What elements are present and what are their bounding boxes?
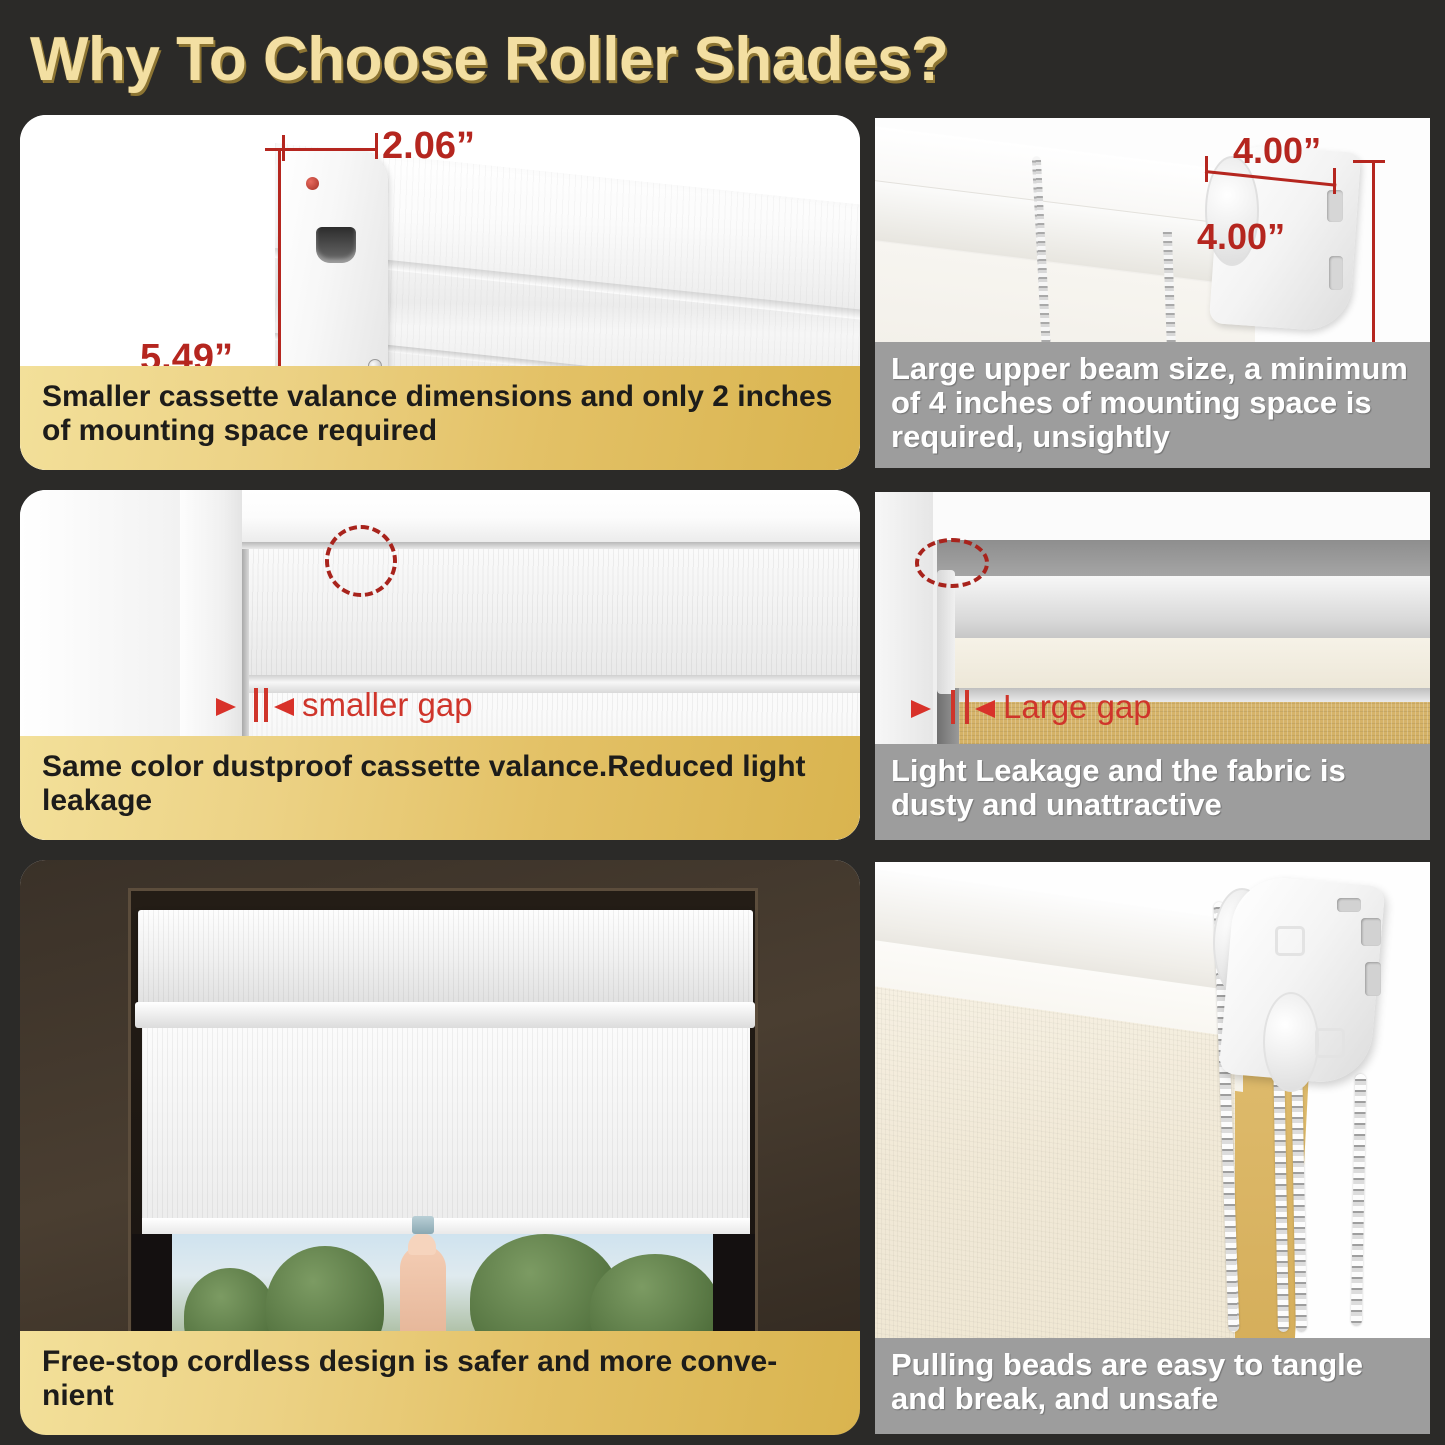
panel-mid-left: smaller gap Same color dustproof cassett… <box>20 490 860 840</box>
gap-callout-label: smaller gap <box>302 686 473 724</box>
caption-top-left: Smaller cassette valance dimensions and … <box>20 366 860 470</box>
gap-callout-label: Large gap <box>1003 688 1152 726</box>
highlight-circle-icon <box>325 525 397 597</box>
dimension-label-height: 4.00” <box>1197 216 1285 258</box>
dimension-label-width: 4.00” <box>1233 130 1321 172</box>
caption-top-right: Large upper beam size, a minimum of 4 in… <box>875 342 1430 468</box>
panel-mid-right: Large gap Light Leakage and the fabric i… <box>875 492 1430 840</box>
panel-top-left: 2.06” 5.49” Smaller cassette valance dim… <box>20 115 860 470</box>
caption-bottom-left: Free-stop cordless design is safer and m… <box>20 1331 860 1435</box>
panel-top-right: 4.00” 4.00” Large upper beam size, a min… <box>875 118 1430 468</box>
dimension-label-width: 2.06” <box>382 125 475 168</box>
caption-mid-right: Light Leakage and the fabric is dusty an… <box>875 744 1430 840</box>
highlight-circle-icon <box>915 538 989 588</box>
comparison-grid: 2.06” 5.49” Smaller cassette valance dim… <box>0 0 1445 1445</box>
panel-bottom-left: Free-stop cordless design is safer and m… <box>20 860 860 1435</box>
caption-mid-left: Same color dustproof cassette valance.Re… <box>20 736 860 840</box>
caption-bottom-right: Pulling beads are easy to tangle and bre… <box>875 1338 1430 1434</box>
panel-bottom-right: Pulling beads are easy to tangle and bre… <box>875 862 1430 1434</box>
